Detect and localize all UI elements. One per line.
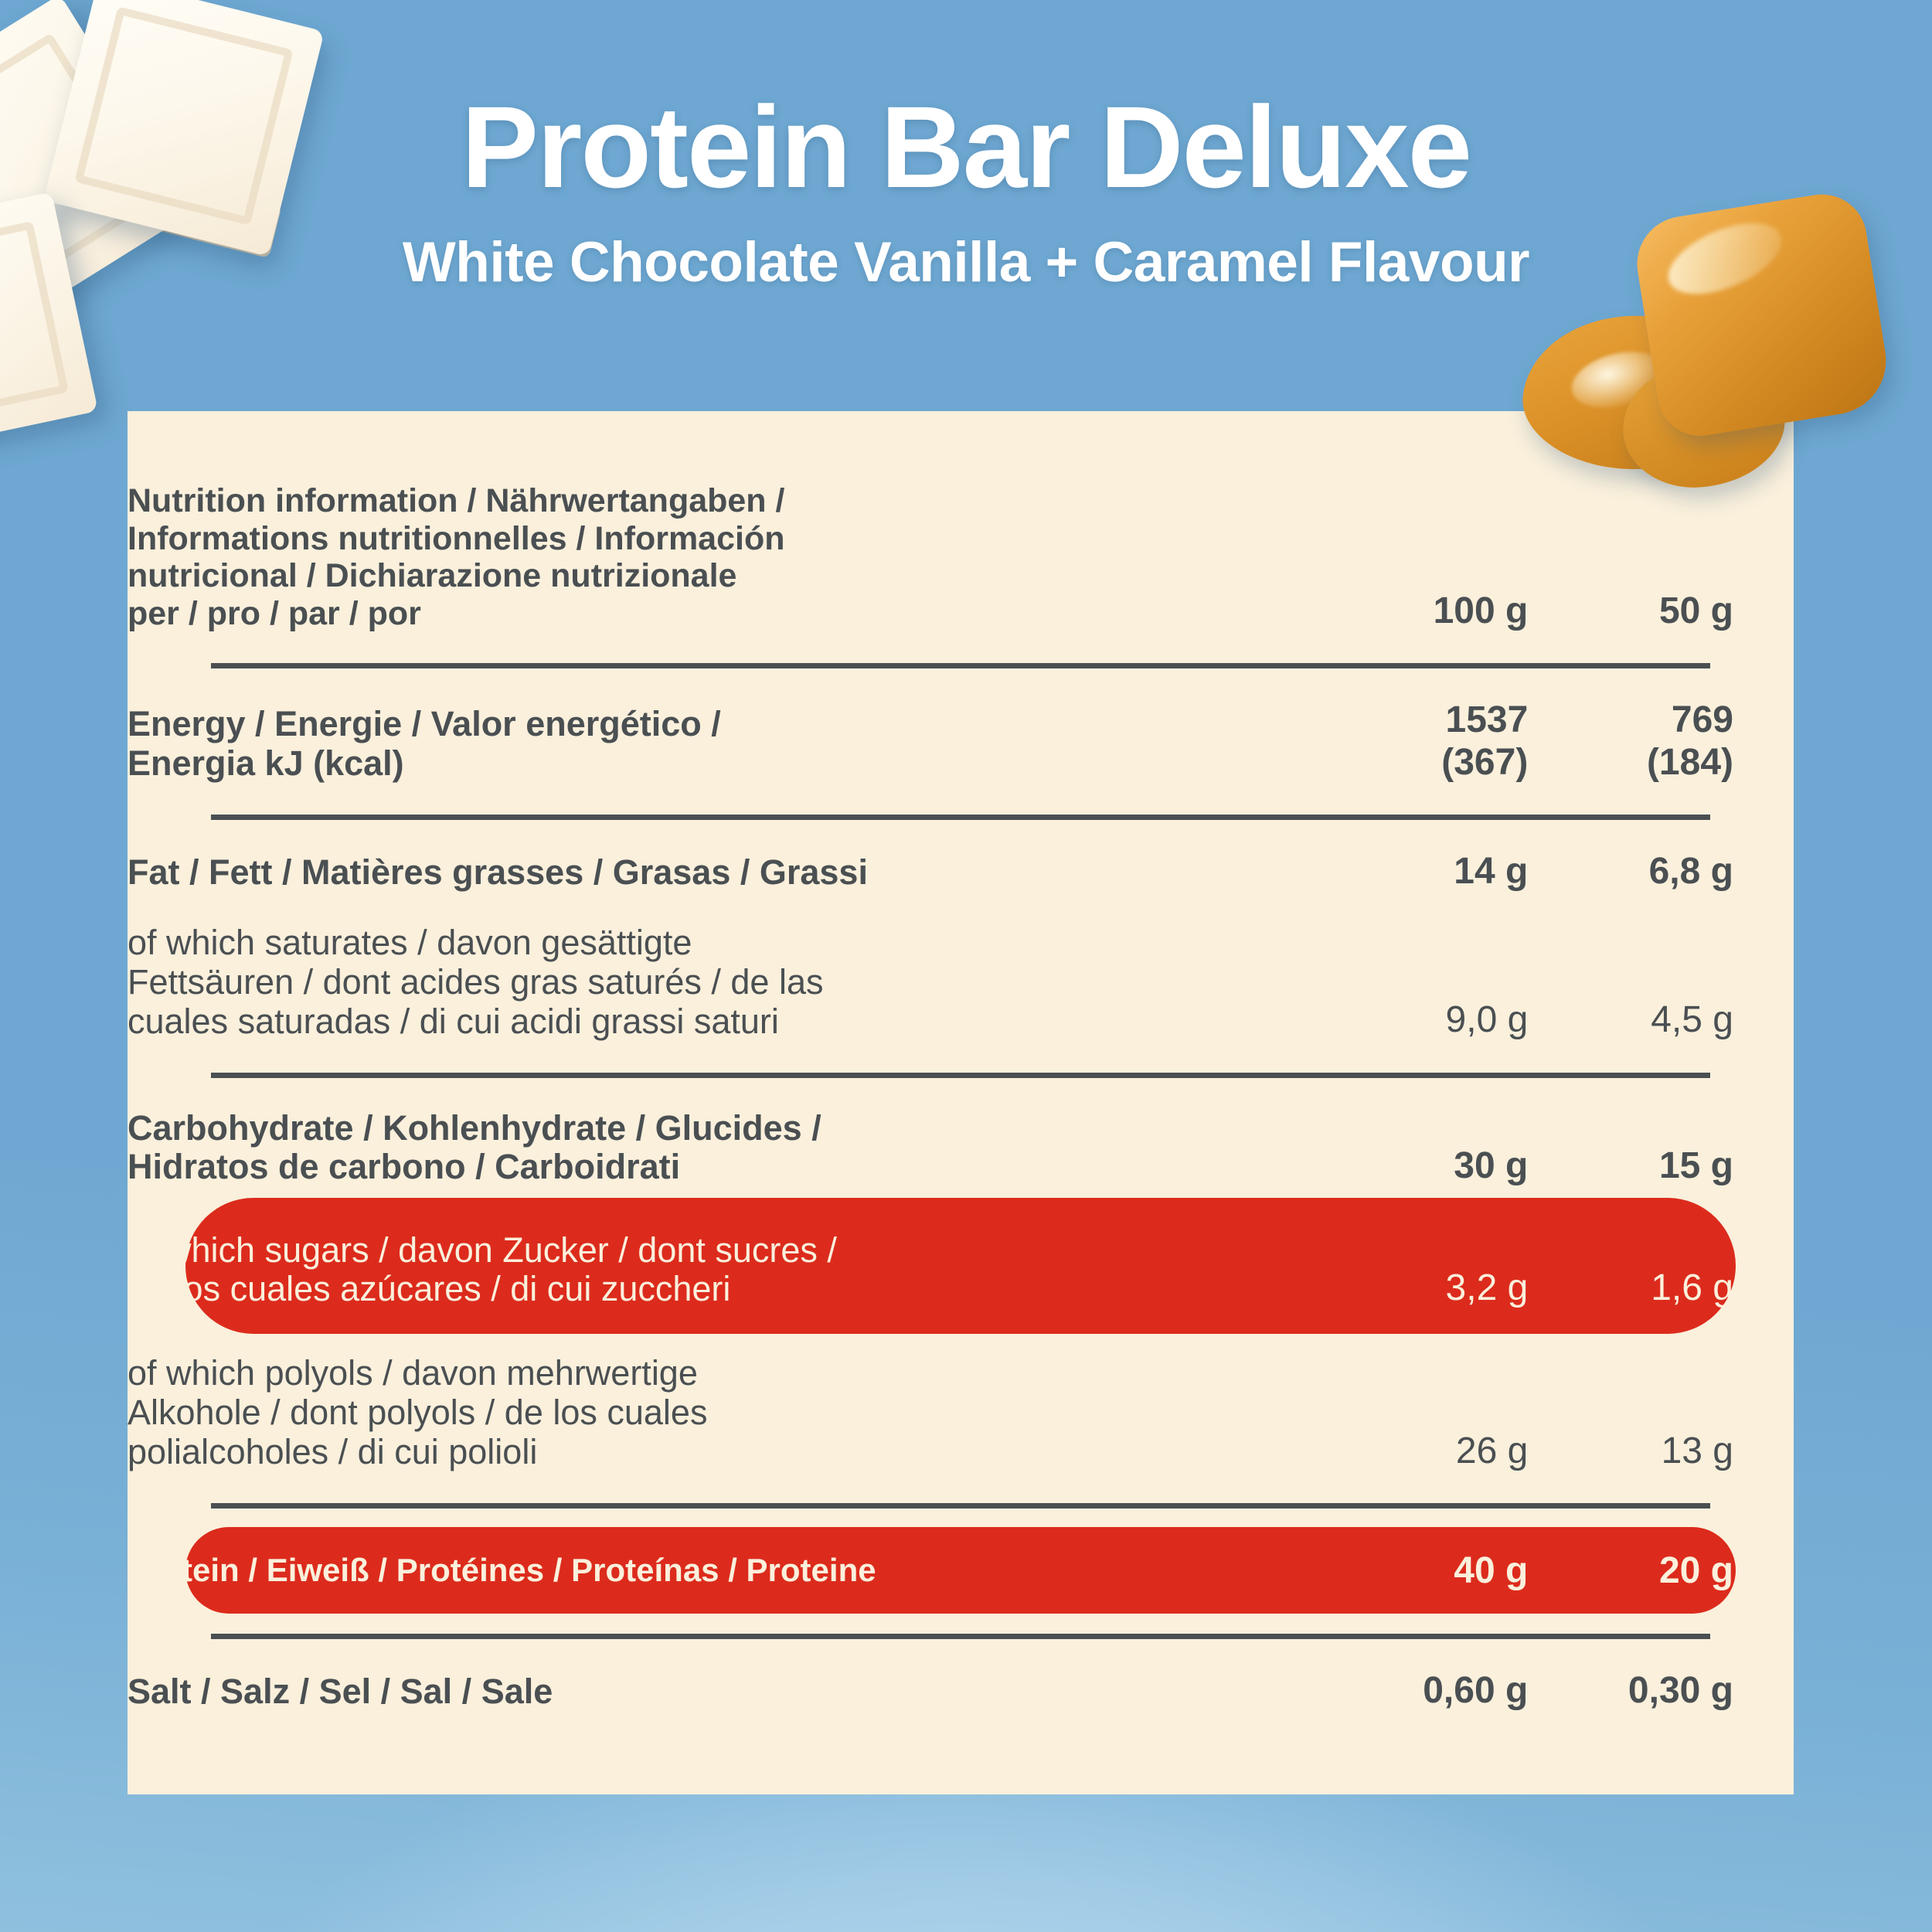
row-value-polyols-100g: 26 g <box>1308 1354 1559 1472</box>
page-title: Protein Bar Deluxe <box>461 89 1471 205</box>
row-value-fat-50g: 6,8 g <box>1559 851 1794 893</box>
label-line: Energia kJ (kcal) <box>128 744 1308 784</box>
row-value-carbohydrate-50g: 15 g <box>1559 1109 1794 1188</box>
divider <box>211 1503 1710 1509</box>
heading-line: nutricional / Dichiarazione nutrizionale <box>128 557 1308 595</box>
table-row: Salt / Salz / Sel / Sal / Sale 0,60 g 0,… <box>128 1670 1794 1712</box>
label-line: Alkohole / dont polyols / de los cuales <box>128 1393 1308 1433</box>
heading-line: Informations nutritionnelles / Informaci… <box>128 520 1308 558</box>
divider <box>211 663 1710 668</box>
label-line: of which polyols / davon mehrwertige <box>128 1354 1308 1393</box>
label-line: of which sugars / davon Zucker / dont su… <box>128 1231 1308 1270</box>
nutrition-heading: Nutrition information / Nährwertangaben … <box>128 482 1308 632</box>
heading-line: Nutrition information / Nährwertangaben … <box>128 482 1308 520</box>
value-line: (367) <box>1308 742 1528 784</box>
nutrition-card-inner: Nutrition information / Nährwertangaben … <box>128 411 1794 1794</box>
table-row: Energy / Energie / Valor energético / En… <box>128 699 1794 783</box>
row-label-protein: Protein / Eiweiß / Protéines / Proteínas… <box>128 1527 1308 1614</box>
divider <box>211 815 1710 820</box>
product-subtitle: White Chocolate Vanilla + Caramel Flavou… <box>403 230 1529 294</box>
label-line: Energy / Energie / Valor energético / <box>128 705 1308 744</box>
value-line: 769 <box>1559 699 1733 741</box>
row-label-saturates: of which saturates / davon gesättigte Fe… <box>128 923 1308 1042</box>
label-line: Protein / Eiweiß / Protéines / Proteínas… <box>128 1552 1308 1588</box>
row-value-sugars-100g: 3,2 g <box>1308 1198 1559 1334</box>
label-line: de los cuales azúcares / di cui zuccheri <box>128 1270 1308 1309</box>
row-value-salt-100g: 0,60 g <box>1308 1670 1559 1712</box>
heading-line: per / pro / par / por <box>128 595 1308 633</box>
column-header-50g: 50 g <box>1559 482 1794 632</box>
row-value-carbohydrate-100g: 30 g <box>1308 1109 1559 1188</box>
row-value-energy-50g: 769 (184) <box>1559 699 1794 783</box>
table-row: of which polyols / davon mehrwertige Alk… <box>128 1354 1794 1472</box>
column-header-100g: 100 g <box>1308 482 1559 632</box>
nutrition-table-continued: of which polyols / davon mehrwertige Alk… <box>128 1334 1794 1509</box>
label-line: Hidratos de carbono / Carboidrati <box>128 1148 1308 1187</box>
row-label-polyols: of which polyols / davon mehrwertige Alk… <box>128 1354 1308 1472</box>
nutrition-table: Nutrition information / Nährwertangaben … <box>128 482 1794 1187</box>
row-value-protein-50g: 20 g <box>1559 1527 1794 1614</box>
row-value-saturates-100g: 9,0 g <box>1308 923 1559 1042</box>
row-label-energy: Energy / Energie / Valor energético / En… <box>128 699 1308 783</box>
row-value-energy-100g: 1537 (367) <box>1308 699 1559 783</box>
highlight-row-sugars: of which sugars / davon Zucker / dont su… <box>128 1198 1794 1334</box>
row-value-polyols-50g: 13 g <box>1559 1354 1794 1472</box>
table-header-row: Nutrition information / Nährwertangaben … <box>128 482 1794 632</box>
nutrition-table-footer: Salt / Salz / Sel / Sal / Sale 0,60 g 0,… <box>128 1614 1794 1712</box>
row-value-fat-100g: 14 g <box>1308 851 1559 893</box>
product-header: Protein Bar Deluxe White Chocolate Vanil… <box>0 0 1932 410</box>
highlight-row-protein: Protein / Eiweiß / Protéines / Proteínas… <box>128 1527 1794 1614</box>
label-line: Fat / Fett / Matières grasses / Grasas /… <box>128 853 1308 893</box>
divider <box>211 1634 1710 1639</box>
row-label-carbohydrate: Carbohydrate / Kohlenhydrate / Glucides … <box>128 1109 1308 1188</box>
row-label-salt: Salt / Salz / Sel / Sal / Sale <box>128 1670 1308 1712</box>
row-value-protein-100g: 40 g <box>1308 1527 1559 1614</box>
table-row: Carbohydrate / Kohlenhydrate / Glucides … <box>128 1109 1794 1188</box>
nutrition-card: Nutrition information / Nährwertangaben … <box>128 411 1794 1794</box>
row-value-saturates-50g: 4,5 g <box>1559 923 1794 1042</box>
label-line: Salt / Salz / Sel / Sal / Sale <box>128 1672 1308 1712</box>
value-line: 1537 <box>1308 699 1528 741</box>
row-label-fat: Fat / Fett / Matières grasses / Grasas /… <box>128 851 1308 893</box>
label-line: Fettsäuren / dont acides gras saturés / … <box>128 963 1308 1002</box>
table-row: Fat / Fett / Matières grasses / Grasas /… <box>128 851 1794 893</box>
table-row: of which saturates / davon gesättigte Fe… <box>128 923 1794 1042</box>
label-line: Carbohydrate / Kohlenhydrate / Glucides … <box>128 1109 1308 1148</box>
value-line: (184) <box>1559 742 1733 784</box>
row-label-sugars: of which sugars / davon Zucker / dont su… <box>128 1198 1308 1334</box>
label-line: cuales saturadas / di cui acidi grassi s… <box>128 1002 1308 1042</box>
row-value-salt-50g: 0,30 g <box>1559 1670 1794 1712</box>
divider <box>211 1073 1710 1078</box>
row-value-sugars-50g: 1,6 g <box>1559 1198 1794 1334</box>
label-line: polialcoholes / di cui polioli <box>128 1433 1308 1472</box>
label-line: of which saturates / davon gesättigte <box>128 923 1308 963</box>
